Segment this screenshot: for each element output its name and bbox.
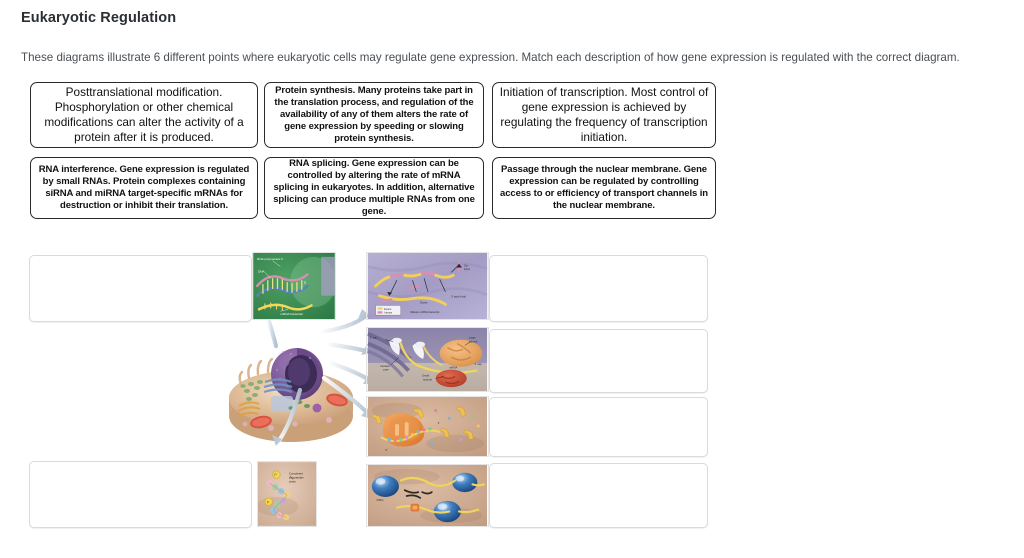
- svg-text:Exons: Exons: [420, 300, 428, 304]
- drop-zone-right-3[interactable]: [489, 397, 708, 457]
- page-title: Eukaryotic Regulation: [21, 10, 176, 26]
- svg-text:subunit: subunit: [423, 377, 432, 381]
- svg-text:intron: intron: [464, 268, 471, 271]
- svg-text:DNA: DNA: [258, 269, 265, 273]
- svg-text:Exons: Exons: [384, 308, 392, 311]
- svg-text:5' cap: 5' cap: [475, 362, 483, 366]
- description-card-rna-splicing[interactable]: RNA splicing. Gene expression can be con…: [264, 157, 484, 219]
- svg-text:RNA polymerase II: RNA polymerase II: [257, 257, 283, 261]
- svg-text:3': 3': [304, 281, 307, 285]
- description-card-passage-through-nuclear-membrane[interactable]: Passage through the nuclear membrane. Ge…: [492, 157, 716, 219]
- drop-zone-left-bottom[interactable]: [29, 461, 252, 528]
- posttranslational-modification-diagram: P P Completed polypeptide chain: [257, 461, 317, 527]
- translation-diagram: 3' 5': [366, 396, 489, 457]
- svg-text:Nuclear: Nuclear: [380, 364, 389, 368]
- rna-interference-diagram: RISC: [366, 464, 489, 527]
- svg-text:Mature mRNA transcript: Mature mRNA transcript: [411, 310, 440, 314]
- svg-text:Large: Large: [469, 336, 476, 340]
- svg-text:chain: chain: [289, 479, 296, 483]
- rna-splicing-diagram: Exons Introns Cut intron Exons 3' poly-A…: [366, 252, 489, 320]
- svg-text:Small: Small: [422, 373, 429, 377]
- nuclear-pore-diagram: 5' cap Nuclear pore Large subunit Small …: [366, 327, 489, 392]
- svg-text:Introns: Introns: [384, 312, 392, 315]
- drop-zone-right-4[interactable]: [489, 463, 708, 528]
- svg-text:RISC: RISC: [377, 498, 384, 502]
- svg-text:mRNA transcript: mRNA transcript: [280, 312, 303, 316]
- exercise-page: Eukaryotic Regulation These diagrams ill…: [0, 0, 1024, 558]
- instructions-text: These diagrams illustrate 6 different po…: [21, 51, 1011, 64]
- transcription-diagram: RNA polymerase II DNA 3' mRNA transcript: [252, 252, 336, 320]
- description-card-rna-interference[interactable]: RNA interference. Gene expression is reg…: [30, 157, 258, 219]
- drop-zone-right-1[interactable]: [489, 255, 708, 322]
- description-card-initiation-of-transcription[interactable]: Initiation of transcription. Most contro…: [492, 82, 716, 148]
- svg-text:3' poly-A tail: 3' poly-A tail: [451, 295, 466, 299]
- drop-zone-right-2[interactable]: [489, 329, 708, 393]
- svg-text:subunit: subunit: [469, 340, 478, 344]
- description-card-protein-synthesis[interactable]: Protein synthesis. Many proteins take pa…: [264, 82, 484, 148]
- eukaryotic-cell-diagram: [225, 324, 375, 456]
- svg-text:5' cap: 5' cap: [370, 336, 378, 340]
- description-card-posttranslational-modification[interactable]: Posttranslational modification. Phosphor…: [30, 82, 258, 148]
- drop-zone-left-top[interactable]: [29, 255, 252, 322]
- svg-text:mRNA: mRNA: [449, 366, 457, 370]
- svg-text:pore: pore: [383, 367, 389, 371]
